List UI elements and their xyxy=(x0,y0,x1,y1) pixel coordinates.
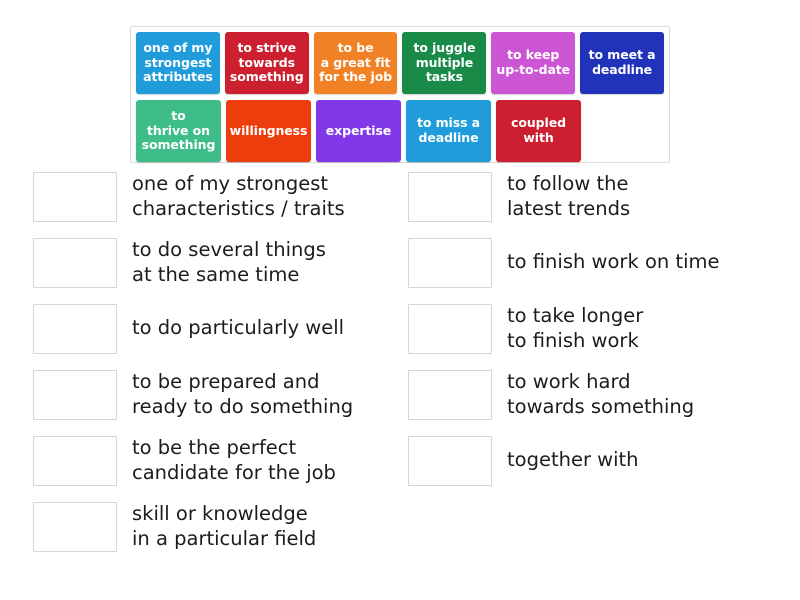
drop-zone[interactable] xyxy=(33,370,117,420)
word-tile[interactable]: one of my strongest attributes xyxy=(136,32,220,94)
word-bank-panel: one of my strongest attributesto strive … xyxy=(130,26,670,163)
answer-row: to do particularly well xyxy=(33,302,400,355)
word-tile[interactable]: to miss a deadline xyxy=(406,100,491,162)
answer-row: skill or knowledge in a particular field xyxy=(33,500,400,553)
answer-row: to follow the latest trends xyxy=(408,170,800,223)
drop-zone[interactable] xyxy=(33,238,117,288)
word-tile-label: to keep up-to-date xyxy=(496,48,570,78)
word-tile[interactable]: to thrive on something xyxy=(136,100,221,162)
word-tile-label: to juggle multiple tasks xyxy=(413,41,475,85)
word-tile[interactable]: to be a great fit for the job xyxy=(314,32,398,94)
definition-text: to follow the latest trends xyxy=(507,172,630,221)
answer-row: together with xyxy=(408,434,800,487)
word-tile[interactable]: to juggle multiple tasks xyxy=(402,32,486,94)
word-tile-label: coupled with xyxy=(511,116,566,146)
word-tile[interactable]: willingness xyxy=(226,100,311,162)
answers-left-column: one of my strongest characteristics / tr… xyxy=(0,170,400,566)
word-tile-label: expertise xyxy=(326,124,391,139)
drop-zone[interactable] xyxy=(408,238,492,288)
answer-row: to do several things at the same time xyxy=(33,236,400,289)
drop-zone[interactable] xyxy=(408,436,492,486)
answer-row: to be the perfect candidate for the job xyxy=(33,434,400,487)
definition-text: to do several things at the same time xyxy=(132,238,326,287)
word-bank-row: one of my strongest attributesto strive … xyxy=(136,32,669,94)
answer-row: to finish work on time xyxy=(408,236,800,289)
word-tile[interactable]: expertise xyxy=(316,100,401,162)
drop-zone[interactable] xyxy=(408,172,492,222)
answer-row: to be prepared and ready to do something xyxy=(33,368,400,421)
drop-zone[interactable] xyxy=(33,502,117,552)
answers-area: one of my strongest characteristics / tr… xyxy=(0,170,800,566)
answer-row: to work hard towards something xyxy=(408,368,800,421)
word-tile-label: to strive towards something xyxy=(230,41,304,85)
definition-text: to do particularly well xyxy=(132,316,344,341)
word-tile-label: to meet a deadline xyxy=(589,48,656,78)
word-tile[interactable]: coupled with xyxy=(496,100,581,162)
answer-row: one of my strongest characteristics / tr… xyxy=(33,170,400,223)
definition-text: to be prepared and ready to do something xyxy=(132,370,353,419)
drop-zone[interactable] xyxy=(33,172,117,222)
definition-text: one of my strongest characteristics / tr… xyxy=(132,172,345,221)
answers-right-column: to follow the latest trendsto finish wor… xyxy=(400,170,800,566)
word-tile-label: to thrive on something xyxy=(142,109,216,153)
answer-row: to take longer to finish work xyxy=(408,302,800,355)
drop-zone[interactable] xyxy=(33,304,117,354)
word-tile-label: to be a great fit for the job xyxy=(319,41,392,85)
drop-zone[interactable] xyxy=(408,370,492,420)
word-tile[interactable]: to keep up-to-date xyxy=(491,32,575,94)
drop-zone[interactable] xyxy=(408,304,492,354)
word-tile[interactable]: to strive towards something xyxy=(225,32,309,94)
word-tile-label: one of my strongest attributes xyxy=(143,41,213,85)
word-tile-label: to miss a deadline xyxy=(417,116,480,146)
word-bank-row: to thrive on somethingwillingnessexperti… xyxy=(136,100,669,162)
definition-text: to finish work on time xyxy=(507,250,719,275)
word-tile[interactable]: to meet a deadline xyxy=(580,32,664,94)
definition-text: skill or knowledge in a particular field xyxy=(132,502,316,551)
word-tile-label: willingness xyxy=(230,124,308,139)
definition-text: to be the perfect candidate for the job xyxy=(132,436,336,485)
drop-zone[interactable] xyxy=(33,436,117,486)
definition-text: to work hard towards something xyxy=(507,370,694,419)
definition-text: to take longer to finish work xyxy=(507,304,643,353)
definition-text: together with xyxy=(507,448,639,473)
